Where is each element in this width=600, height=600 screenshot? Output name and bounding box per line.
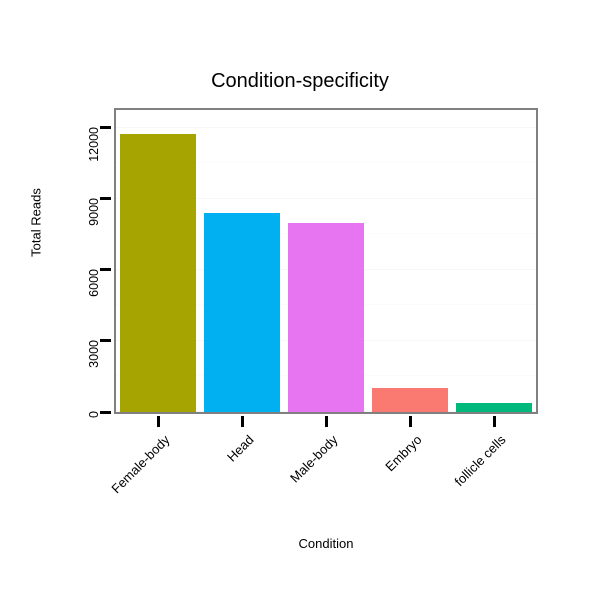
bar[interactable]	[120, 134, 196, 412]
x-tick-mark	[409, 416, 412, 427]
x-tick-mark	[493, 416, 496, 427]
y-tick-label: 12000	[87, 127, 101, 197]
x-tick-mark	[325, 416, 328, 427]
y-tick-label: 9000	[87, 198, 101, 268]
chart-title: Condition-specificity	[0, 70, 600, 93]
y-tick-mark	[100, 339, 111, 342]
x-axis-title: Condition	[114, 536, 538, 551]
y-tick-label: 0	[87, 411, 101, 481]
x-tick-mark	[157, 416, 160, 427]
y-tick-label: 6000	[87, 269, 101, 339]
y-tick-label: 3000	[87, 340, 101, 410]
y-tick-mark	[100, 411, 111, 414]
y-axis-title: Total Reads	[29, 163, 44, 283]
y-tick-mark	[100, 197, 111, 200]
plot-area	[116, 110, 536, 412]
x-tick-mark	[241, 416, 244, 427]
plot-panel	[114, 108, 538, 414]
y-tick-mark	[100, 268, 111, 271]
bar-chart: Condition-specificity Total Reads 030006…	[0, 0, 600, 600]
gridline	[116, 127, 536, 128]
bar[interactable]	[288, 223, 364, 412]
y-tick-mark	[100, 126, 111, 129]
bar[interactable]	[204, 213, 280, 412]
bar[interactable]	[372, 388, 448, 412]
bar[interactable]	[456, 403, 532, 412]
